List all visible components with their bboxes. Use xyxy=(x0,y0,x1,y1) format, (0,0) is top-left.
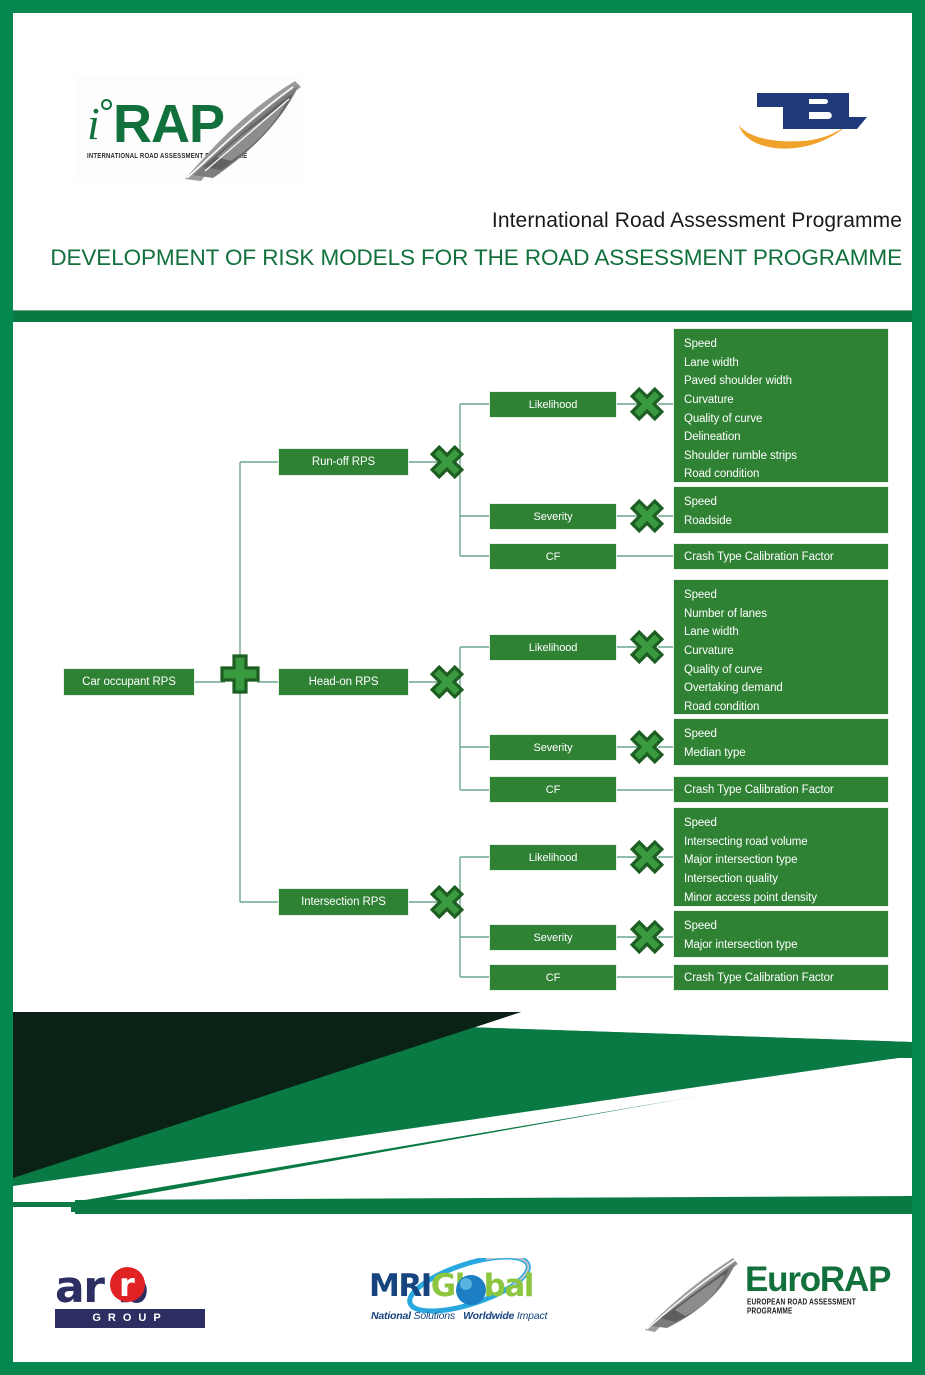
irap-road-swoosh-icon xyxy=(183,75,303,182)
plus-operator-icon xyxy=(222,656,258,692)
factor-item: Crash Type Calibration Factor xyxy=(684,969,888,988)
panel-run-off-severity-factors: Speed Roadside xyxy=(673,486,889,534)
factor-item: Speed xyxy=(684,493,888,512)
factor-item: Paved shoulder width xyxy=(684,372,888,391)
footer-partner-logos: ar b r GROUP MRIGlobal National Solution… xyxy=(13,1222,912,1362)
factor-item: Major intersection type xyxy=(684,936,888,955)
factor-item: Intersection quality xyxy=(684,870,888,889)
eurorap-logo: EuroRAP EUROPEAN ROAD ASSESSMENT PROGRAM… xyxy=(641,1254,871,1336)
factor-item: Speed xyxy=(684,917,888,936)
irap-logo-dot-icon xyxy=(101,99,112,110)
factor-item: Minor access point density xyxy=(684,889,888,908)
arrb-group-logo: ar b r GROUP xyxy=(55,1262,205,1332)
document-page: i RAP INTERNATIONAL ROAD ASSESSMENT PROG… xyxy=(0,0,925,1375)
node-head-on-rps[interactable]: Head-on RPS xyxy=(278,668,409,696)
node-car-occupant-rps[interactable]: Car occupant RPS xyxy=(63,668,195,696)
factor-item: Crash Type Calibration Factor xyxy=(684,781,888,800)
trl-logo xyxy=(731,85,871,157)
factor-item: Number of lanes xyxy=(684,605,888,624)
node-intersection-rps[interactable]: Intersection RPS xyxy=(278,888,409,916)
panel-head-on-severity-factors: Speed Median type xyxy=(673,718,889,766)
page-frame-right xyxy=(912,0,925,1375)
node-run-off-cf[interactable]: CF xyxy=(489,543,617,570)
mriglobal-logo-mri: MRI xyxy=(369,1268,431,1304)
node-head-on-severity[interactable]: Severity xyxy=(489,734,617,761)
mriglobal-globe-icon xyxy=(453,1272,489,1308)
node-run-off-likelihood[interactable]: Likelihood xyxy=(489,391,617,418)
factor-item: Major intersection type xyxy=(684,851,888,870)
tagline-bold-2: Worldwide xyxy=(463,1310,514,1322)
eurorap-road-swoosh-icon xyxy=(641,1254,741,1334)
node-head-on-cf[interactable]: CF xyxy=(489,776,617,803)
node-intersection-likelihood[interactable]: Likelihood xyxy=(489,844,617,871)
page-frame-top xyxy=(0,0,925,13)
tagline-light-1: Solutions xyxy=(414,1310,455,1322)
panel-intersection-likelihood-factors: Speed Intersecting road volume Major int… xyxy=(673,807,889,907)
factor-item: Speed xyxy=(684,814,888,833)
factor-item: Lane width xyxy=(684,354,888,373)
factor-item: Overtaking demand xyxy=(684,679,888,698)
header-subtitle: International Road Assessment Programme xyxy=(26,209,902,233)
irap-logo: i RAP INTERNATIONAL ROAD ASSESSMENT PROG… xyxy=(75,75,303,182)
page-frame-bottom xyxy=(0,1362,925,1375)
irap-logo-i: i xyxy=(87,97,100,150)
tagline-light-2: Impact xyxy=(517,1310,547,1322)
panel-head-on-likelihood-factors: Speed Number of lanes Lane width Curvatu… xyxy=(673,579,889,715)
factor-item: Speed xyxy=(684,586,888,605)
arrb-logo-letter-r: r xyxy=(119,1266,135,1304)
node-intersection-severity[interactable]: Severity xyxy=(489,924,617,951)
band-graphic xyxy=(13,1000,912,1222)
risk-model-tree-diagram: Car occupant RPS Run-off RPS Head-on RPS… xyxy=(13,322,912,1000)
panel-intersection-cf-factor: Crash Type Calibration Factor xyxy=(673,964,889,991)
factor-item: Road condition xyxy=(684,698,888,717)
eurorap-logo-wordmark: EuroRAP xyxy=(745,1260,890,1300)
panel-run-off-cf-factor: Crash Type Calibration Factor xyxy=(673,543,889,570)
eurorap-logo-subtitle: EUROPEAN ROAD ASSESSMENT PROGRAMME xyxy=(747,1298,871,1316)
header-section: i RAP INTERNATIONAL ROAD ASSESSMENT PROG… xyxy=(13,13,912,300)
tagline-bold-1: National xyxy=(371,1310,411,1322)
node-run-off-rps[interactable]: Run-off RPS xyxy=(278,448,409,476)
page-frame-left xyxy=(0,0,13,1375)
page-title: DEVELOPMENT OF RISK MODELS FOR THE ROAD … xyxy=(26,245,902,271)
factor-item: Median type xyxy=(684,744,888,763)
mriglobal-logo: MRIGlobal National Solutions Worldwide I… xyxy=(365,1258,557,1338)
factor-item: Curvature xyxy=(684,642,888,661)
node-run-off-severity[interactable]: Severity xyxy=(489,503,617,530)
factor-item: Shoulder rumble strips xyxy=(684,447,888,466)
factor-item: Delineation xyxy=(684,428,888,447)
decorative-green-band xyxy=(13,1000,912,1222)
factor-item: Roadside xyxy=(684,512,888,531)
factor-item: Lane width xyxy=(684,623,888,642)
panel-intersection-severity-factors: Speed Major intersection type xyxy=(673,910,889,958)
multiply-operator-icon-group xyxy=(424,381,669,959)
mriglobal-logo-tagline: National Solutions Worldwide Impact xyxy=(371,1310,547,1322)
factor-item: Intersecting road volume xyxy=(684,833,888,852)
factor-item: Speed xyxy=(684,725,888,744)
factor-item: Speed xyxy=(684,335,888,354)
panel-run-off-likelihood-factors: Speed Lane width Paved shoulder width Cu… xyxy=(673,328,889,483)
panel-head-on-cf-factor: Crash Type Calibration Factor xyxy=(673,776,889,803)
factor-item: Quality of curve xyxy=(684,410,888,429)
node-head-on-likelihood[interactable]: Likelihood xyxy=(489,634,617,661)
factor-item: Quality of curve xyxy=(684,661,888,680)
factor-item: Crash Type Calibration Factor xyxy=(684,548,888,567)
node-intersection-cf[interactable]: CF xyxy=(489,964,617,991)
factor-item: Curvature xyxy=(684,391,888,410)
arrb-logo-group-bar: GROUP xyxy=(55,1309,205,1328)
factor-item: Road condition xyxy=(684,465,888,484)
